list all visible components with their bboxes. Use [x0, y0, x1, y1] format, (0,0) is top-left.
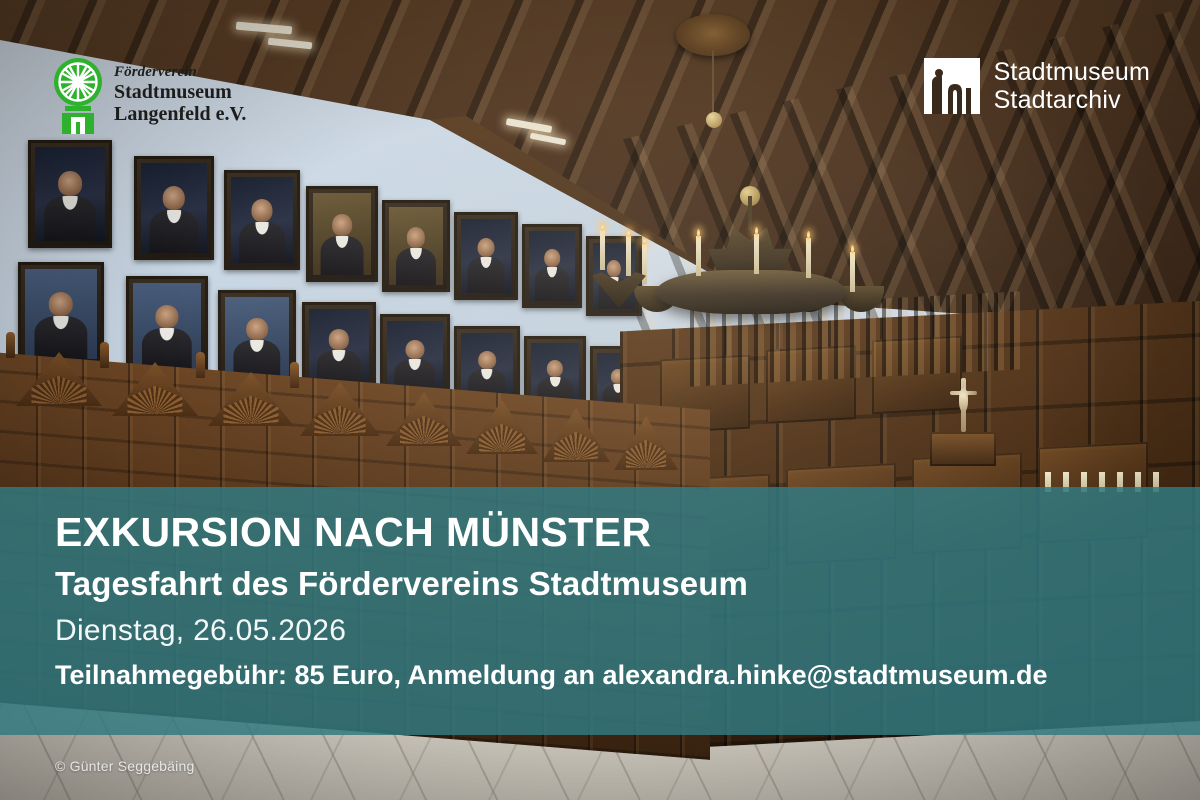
chandelier — [600, 196, 900, 366]
stall-finial — [196, 352, 205, 378]
chandelier-candle — [754, 234, 759, 274]
event-info-banner: EXKURSION NACH MÜNSTER Tagesfahrt des Fö… — [0, 487, 1200, 735]
event-fee-and-registration: Teilnahmegebühr: 85 Euro, Anmeldung an a… — [55, 660, 1180, 691]
chandelier-cord-ball — [706, 112, 722, 128]
portrait-frame — [224, 170, 300, 270]
crucifix-icon — [948, 378, 978, 432]
altar-table — [930, 432, 996, 466]
sconce-candle — [600, 230, 605, 270]
wheel-building-icon — [52, 56, 104, 134]
event-poster: Förderverein Stadtmuseum Langenfeld e.V.… — [0, 0, 1200, 800]
banner-content: EXKURSION NACH MÜNSTER Tagesfahrt des Fö… — [55, 487, 1180, 691]
portrait-frame — [454, 212, 518, 300]
portrait-frame — [522, 224, 582, 308]
event-subtitle: Tagesfahrt des Fördervereins Stadtmuseum — [55, 565, 1180, 603]
stadtmuseum-stadtarchiv-logo: Stadtmuseum Stadtarchiv — [924, 58, 1150, 114]
logo-line-stadtmuseum: Stadtmuseum — [114, 81, 246, 103]
portrait-frame — [18, 262, 104, 366]
logo-line-langenfeld: Langenfeld e.V. — [114, 103, 246, 125]
museum-building-icon — [924, 58, 980, 114]
chandelier-candle — [850, 252, 855, 292]
stall-finial — [6, 332, 15, 358]
stall-finial — [290, 362, 299, 388]
logo-line-stadtarchiv: Stadtarchiv — [994, 86, 1150, 114]
chandelier-candle — [806, 238, 811, 278]
chandelier-stem — [748, 196, 752, 230]
portrait-frame — [28, 140, 112, 248]
chandelier-candle — [696, 236, 701, 276]
logo-line-stadtmuseum: Stadtmuseum — [994, 58, 1150, 86]
photo-credit: © Günter Seggebäing — [55, 758, 194, 774]
foerderverein-logo: Förderverein Stadtmuseum Langenfeld e.V. — [52, 56, 246, 134]
event-date: Dienstag, 26.05.2026 — [55, 614, 1180, 648]
chandelier-cord — [712, 50, 714, 116]
event-title: EXKURSION NACH MÜNSTER — [55, 509, 1180, 556]
portrait-frame — [134, 156, 214, 260]
stadtmuseum-logo-text: Stadtmuseum Stadtarchiv — [994, 58, 1150, 114]
logo-line-foerderverein: Förderverein — [114, 64, 246, 81]
portrait-frame — [306, 186, 378, 282]
portrait-frame — [382, 200, 450, 292]
stall-finial — [100, 342, 109, 368]
sconce-candle — [626, 236, 631, 276]
chandelier-body — [656, 270, 846, 314]
foerderverein-logo-text: Förderverein Stadtmuseum Langenfeld e.V. — [114, 64, 246, 126]
